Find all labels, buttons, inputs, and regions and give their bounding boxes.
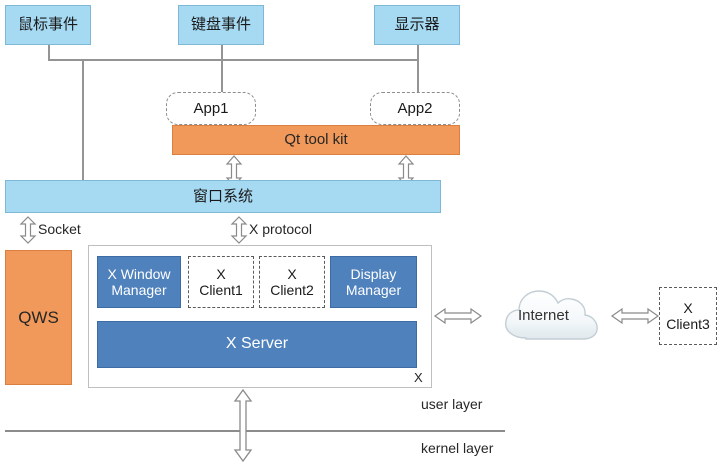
box-mouse-events-label: 鼠标事件 xyxy=(18,16,78,33)
connector-bus-to-app2 xyxy=(417,59,419,93)
box-app2: App2 xyxy=(370,92,460,125)
box-x-client2: X Client2 xyxy=(259,256,325,308)
box-qws: QWS xyxy=(5,250,72,385)
label-x-group: X xyxy=(414,370,423,385)
box-qws-label: QWS xyxy=(18,308,59,328)
box-qt-toolkit: Qt tool kit xyxy=(172,125,460,155)
box-window-system: 窗口系统 xyxy=(5,180,441,213)
double-arrow-vertical-icon xyxy=(19,216,37,244)
box-display-label: 显示器 xyxy=(394,16,439,33)
box-display-manager: Display Manager xyxy=(330,256,417,308)
double-arrow-horizontal-icon xyxy=(611,307,659,325)
label-x-protocol: X protocol xyxy=(249,221,312,237)
double-arrow-vertical-icon xyxy=(230,216,248,244)
box-x-server: X Server xyxy=(97,321,417,368)
box-window-system-label: 窗口系统 xyxy=(193,188,253,205)
connector-bus-to-app1 xyxy=(221,59,223,93)
box-x-window-manager-label-line1: X Window xyxy=(107,266,170,282)
cloud-icon: Internet xyxy=(496,282,606,355)
connector-keyboard-stem xyxy=(221,45,223,60)
box-x-client3-label-line1: X xyxy=(683,300,692,316)
double-arrow-horizontal-icon xyxy=(434,307,482,325)
box-x-server-label: X Server xyxy=(226,335,288,353)
diagram-canvas: 鼠标事件 键盘事件 显示器 App1 App2 Qt tool kit 窗口系统… xyxy=(0,0,720,467)
double-arrow-vertical-icon xyxy=(233,389,253,463)
box-x-window-manager: X Window Manager xyxy=(97,256,181,308)
box-display: 显示器 xyxy=(374,5,460,45)
layer-separator-line xyxy=(5,430,505,432)
box-display-manager-label-line1: Display xyxy=(351,266,397,282)
box-x-client3: X Client3 xyxy=(659,287,717,345)
box-app1-label: App1 xyxy=(193,100,228,117)
connector-bus-to-window-system xyxy=(82,59,84,187)
cloud-label: Internet xyxy=(518,307,569,324)
label-kernel-layer: kernel layer xyxy=(421,440,493,456)
box-display-manager-label-line2: Manager xyxy=(346,282,401,298)
box-x-client1-label-line2: Client1 xyxy=(199,282,243,298)
box-qt-toolkit-label: Qt tool kit xyxy=(284,131,347,148)
box-x-window-manager-label-line2: Manager xyxy=(111,282,166,298)
box-keyboard-events: 键盘事件 xyxy=(178,5,264,45)
box-app1: App1 xyxy=(166,92,256,125)
box-x-client1-label-line1: X xyxy=(216,266,225,282)
connector-bus xyxy=(48,59,418,61)
box-x-client2-label-line2: Client2 xyxy=(270,282,314,298)
box-keyboard-events-label: 键盘事件 xyxy=(191,16,251,33)
connector-mouse-stem xyxy=(48,45,50,60)
box-app2-label: App2 xyxy=(397,100,432,117)
box-mouse-events: 鼠标事件 xyxy=(5,5,91,45)
label-user-layer: user layer xyxy=(421,396,482,412)
box-x-client2-label-line1: X xyxy=(287,266,296,282)
box-x-client1: X Client1 xyxy=(188,256,254,308)
label-socket: Socket xyxy=(38,221,81,237)
box-x-client3-label-line2: Client3 xyxy=(666,316,710,332)
connector-display-stem xyxy=(417,45,419,60)
